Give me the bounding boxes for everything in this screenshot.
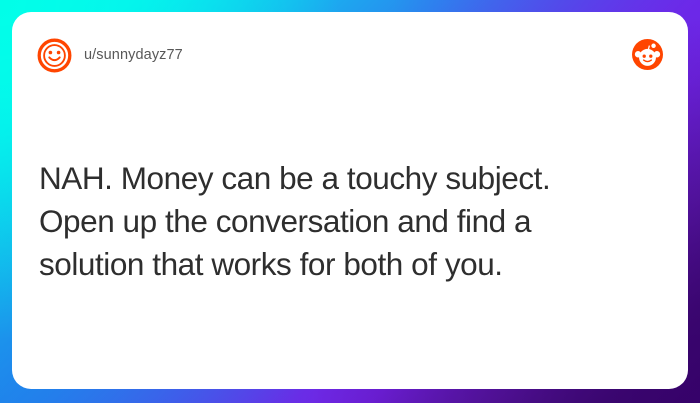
screenshot-canvas: u/sunnydayz77 NAH. Money can be a touchy… [0,0,700,403]
author-username: u/sunnydayz77 [84,47,183,63]
reddit-post-card: u/sunnydayz77 NAH. Money can be a touchy… [12,12,688,389]
post-header: u/sunnydayz77 [12,12,688,98]
author-block[interactable]: u/sunnydayz77 [37,38,183,73]
post-body-text: NAH. Money can be a touchy subject. Open… [39,157,658,286]
post-line-2: Open up the conversation and find a [39,200,658,243]
reddit-snoo-icon[interactable] [632,39,663,70]
post-line-1: NAH. Money can be a touchy subject. [39,157,658,200]
smiley-face-icon[interactable] [37,38,72,73]
post-line-3: solution that works for both of you. [39,243,658,286]
